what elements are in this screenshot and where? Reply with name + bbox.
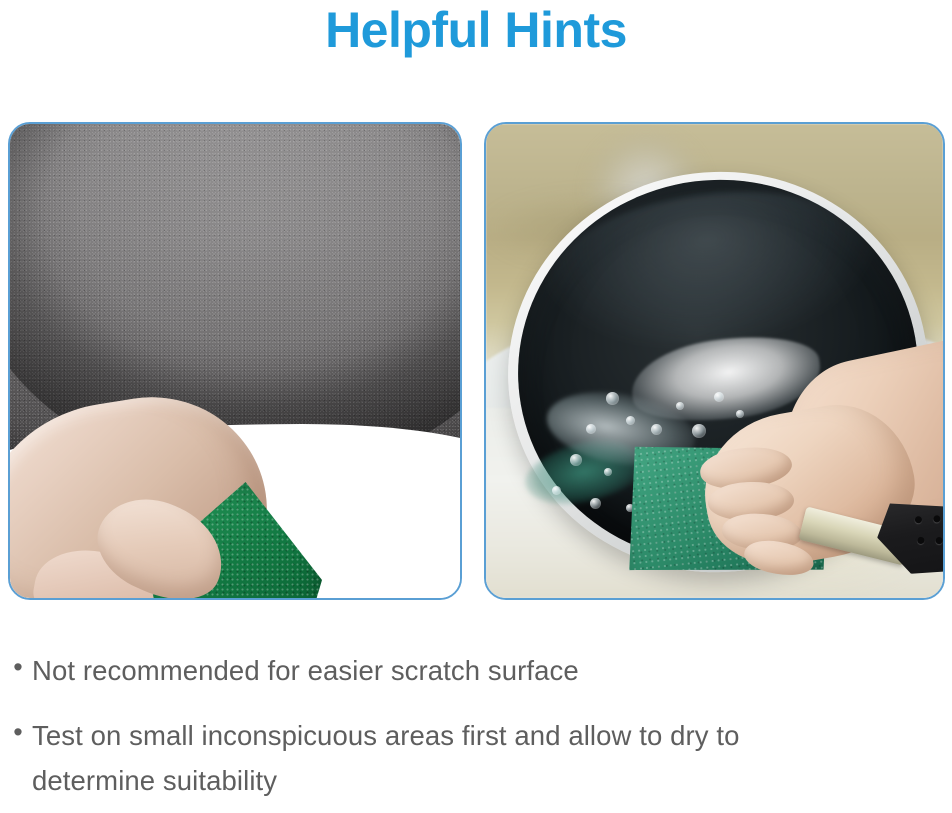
water-bubble (586, 424, 596, 434)
water-bubble (692, 424, 706, 438)
water-bubble (651, 424, 662, 435)
handle-hole (914, 516, 922, 524)
page-title: Helpful Hints (0, 2, 952, 58)
photo-frame-right (484, 122, 945, 600)
water-bubble (606, 392, 619, 405)
photo-right-washing-wok (486, 124, 943, 598)
handle-hole (917, 536, 925, 544)
water-bubble (676, 402, 684, 410)
bullet-icon: • (0, 713, 32, 751)
photo-left-pan-and-scouring-pad (10, 124, 460, 598)
water-bubble (604, 468, 612, 476)
handle-hole (933, 515, 941, 523)
handle-hole (935, 537, 943, 545)
water-bubble (714, 392, 724, 402)
hint-text: Test on small inconspicuous areas first … (32, 713, 822, 803)
water-bubble (736, 410, 744, 418)
hints-list: • Not recommended for easier scratch sur… (0, 648, 952, 813)
water-bubble (590, 498, 601, 509)
list-item: • Test on small inconspicuous areas firs… (0, 713, 952, 803)
bullet-icon: • (0, 648, 32, 686)
hint-text: Not recommended for easier scratch surfa… (32, 648, 579, 693)
photo-frame-left (8, 122, 462, 600)
helpful-hints-page: Helpful Hints (0, 0, 952, 813)
water-bubble (626, 416, 635, 425)
water-bubble (552, 486, 561, 495)
water-bubble (570, 454, 582, 466)
photo-gallery (0, 118, 952, 604)
list-item: • Not recommended for easier scratch sur… (0, 648, 952, 693)
